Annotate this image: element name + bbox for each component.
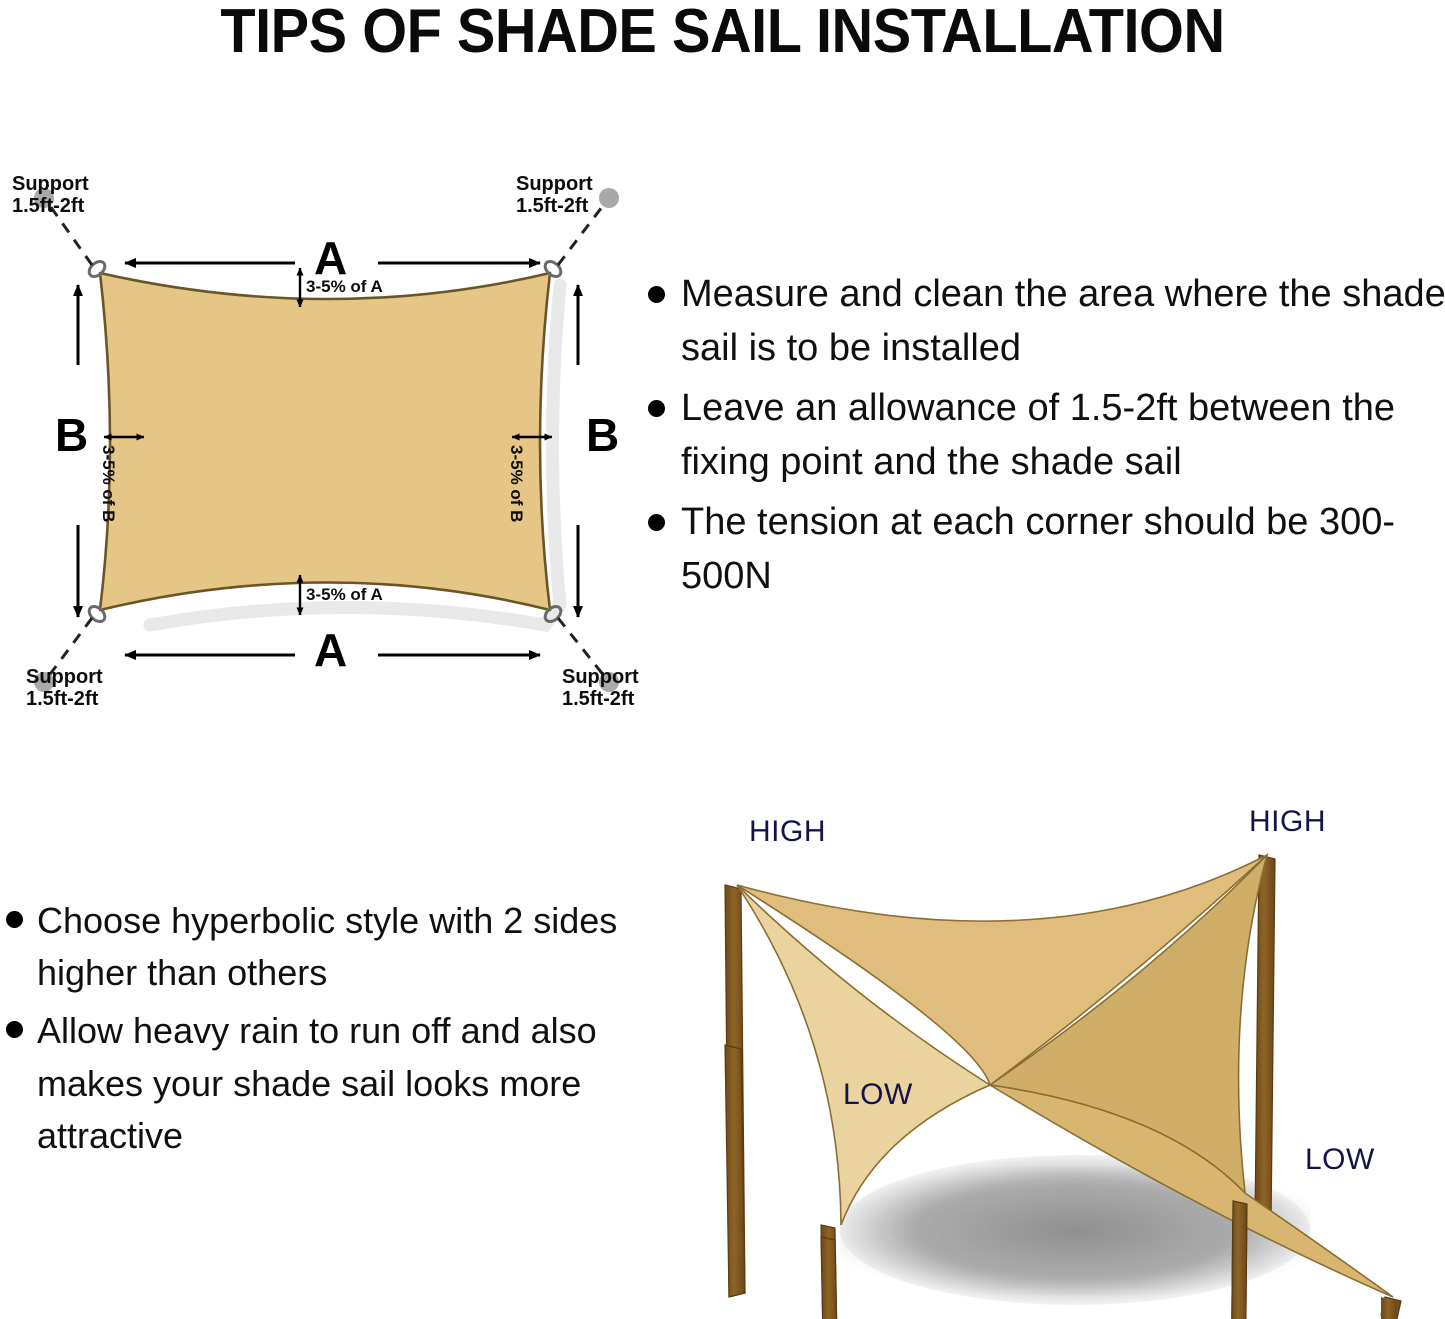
sag-label-right: 3-5% of B bbox=[508, 445, 525, 522]
support-title: Support bbox=[26, 666, 103, 688]
list-item-label: Leave an allowance of 1.5-2ft between th… bbox=[681, 382, 1445, 490]
post-high-left-front bbox=[725, 1045, 745, 1297]
post-low-left-front bbox=[821, 1237, 838, 1319]
support-title: Support bbox=[12, 173, 89, 195]
list-item-label: Choose hyperbolic style with 2 sides hig… bbox=[37, 895, 631, 999]
post-high-right bbox=[1255, 855, 1275, 1225]
bullet-dot-icon bbox=[6, 911, 23, 928]
list-item-label: Allow heavy rain to run off and also mak… bbox=[37, 1005, 631, 1162]
bullet-dot-icon bbox=[648, 400, 665, 417]
bullet-dot-icon bbox=[648, 286, 665, 303]
page-title: TIPS OF SHADE SAIL INSTALLATION bbox=[51, 0, 1395, 67]
support-distance: 1.5ft-2ft bbox=[562, 688, 634, 710]
hyperbolic-style-tips-list: Choose hyperbolic style with 2 sides hig… bbox=[6, 895, 631, 1168]
sail-body bbox=[100, 273, 550, 610]
support-label-top-left: Support 1.5ft-2ft bbox=[12, 173, 89, 218]
support-label-bottom-left: Support 1.5ft-2ft bbox=[26, 666, 103, 711]
post-low-right-front bbox=[1231, 1201, 1247, 1319]
list-item: Choose hyperbolic style with 2 sides hig… bbox=[6, 895, 631, 999]
bullet-dot-icon bbox=[6, 1021, 23, 1038]
support-label-bottom-right: Support 1.5ft-2ft bbox=[562, 666, 639, 711]
installation-tips-list: Measure and clean the area where the sha… bbox=[648, 268, 1445, 610]
dimension-label-b-left: B bbox=[55, 412, 88, 458]
dimension-label-a-bottom: A bbox=[314, 627, 347, 673]
label-low-right: LOW bbox=[1305, 1145, 1375, 1175]
sag-label-left: 3-5% of B bbox=[100, 445, 117, 522]
support-title: Support bbox=[516, 173, 593, 195]
list-item: Allow heavy rain to run off and also mak… bbox=[6, 1005, 631, 1162]
support-label-top-right: Support 1.5ft-2ft bbox=[516, 173, 593, 218]
label-high-left: HIGH bbox=[749, 817, 826, 847]
bullet-dot-icon bbox=[648, 514, 665, 531]
list-item: The tension at each corner should be 300… bbox=[648, 496, 1445, 604]
support-title: Support bbox=[562, 666, 639, 688]
list-item: Leave an allowance of 1.5-2ft between th… bbox=[648, 382, 1445, 490]
label-high-right: HIGH bbox=[1249, 807, 1326, 837]
rectangular-sail-diagram: A A B B 3-5% of A 3-5% of A 3-5% of B 3-… bbox=[0, 155, 680, 735]
support-distance: 1.5ft-2ft bbox=[516, 195, 588, 217]
support-distance: 1.5ft-2ft bbox=[26, 688, 98, 710]
support-distance: 1.5ft-2ft bbox=[12, 195, 84, 217]
list-item-label: Measure and clean the area where the sha… bbox=[681, 268, 1445, 376]
list-item: Measure and clean the area where the sha… bbox=[648, 268, 1445, 376]
label-low-left: LOW bbox=[843, 1080, 913, 1110]
sag-label-top: 3-5% of A bbox=[306, 278, 383, 295]
sag-label-bottom: 3-5% of A bbox=[306, 586, 383, 603]
hyperbolic-sail-svg bbox=[645, 785, 1445, 1319]
hyperbolic-sail-illustration: HIGH HIGH LOW LOW bbox=[645, 785, 1445, 1319]
dimension-label-a-top: A bbox=[314, 235, 347, 281]
list-item-label: The tension at each corner should be 300… bbox=[681, 496, 1445, 604]
dimension-label-b-right: B bbox=[586, 412, 619, 458]
